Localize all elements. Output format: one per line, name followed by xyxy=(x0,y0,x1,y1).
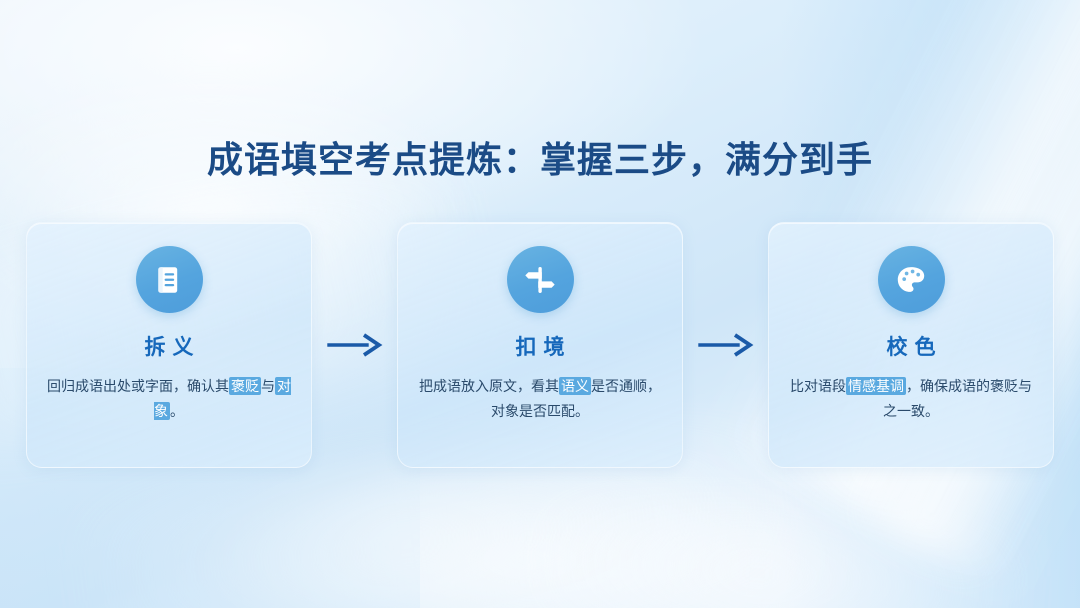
keyword-highlight: 语义 xyxy=(559,377,591,395)
step-card-2[interactable]: 扣境 把成语放入原文，看其语义是否通顺，对象是否匹配。 xyxy=(397,222,683,468)
signpost-icon xyxy=(523,263,557,297)
arrow-step-2-to-3 xyxy=(689,222,763,468)
arrow-right-icon xyxy=(327,332,383,358)
step-2-icon-badge xyxy=(507,246,574,313)
step-card-1[interactable]: 拆义 回归成语出处或字面，确认其褒贬与对象。 xyxy=(26,222,312,468)
description-text: ，确保成语的褒贬与之一致。 xyxy=(883,378,1032,419)
arrow-step-1-to-2 xyxy=(318,222,392,468)
arrow-right-icon xyxy=(698,332,754,358)
palette-icon xyxy=(894,263,928,297)
keyword-highlight: 情感基调 xyxy=(846,377,906,395)
description-text: 回归成语出处或字面，确认其 xyxy=(47,378,229,394)
step-3-title: 校色 xyxy=(880,331,943,361)
step-3-description: 比对语段情感基调，确保成语的褒贬与之一致。 xyxy=(789,374,1033,424)
step-1-icon-badge xyxy=(136,246,203,313)
step-1-description: 回归成语出处或字面，确认其褒贬与对象。 xyxy=(47,374,291,424)
description-text: 把成语放入原文，看其 xyxy=(419,378,559,394)
step-2-title: 扣境 xyxy=(509,331,572,361)
book-icon xyxy=(152,263,186,297)
step-3-icon-badge xyxy=(878,246,945,313)
steps-row: 拆义 回归成语出处或字面，确认其褒贬与对象。 扣境 把成语放入原文，看其语义是否… xyxy=(26,222,1054,468)
step-2-description: 把成语放入原文，看其语义是否通顺，对象是否匹配。 xyxy=(418,374,662,424)
step-card-3[interactable]: 校色 比对语段情感基调，确保成语的褒贬与之一致。 xyxy=(768,222,1054,468)
description-text: 比对语段 xyxy=(790,378,846,394)
description-text: 与 xyxy=(261,378,275,394)
page-title: 成语填空考点提炼：掌握三步，满分到手 xyxy=(0,131,1080,183)
description-text: 。 xyxy=(170,403,184,419)
step-1-title: 拆义 xyxy=(138,331,201,361)
keyword-highlight: 褒贬 xyxy=(229,377,261,395)
